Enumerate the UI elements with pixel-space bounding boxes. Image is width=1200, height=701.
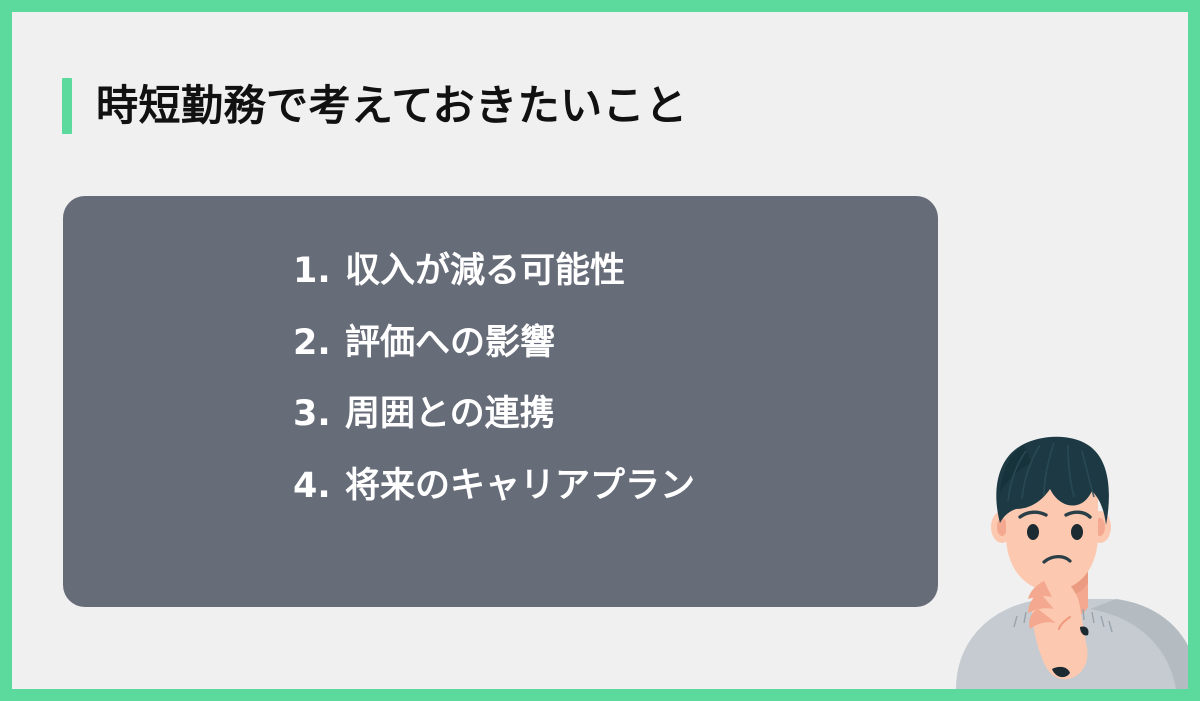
list-item-label: 評価への影響 xyxy=(345,324,555,363)
title-text: 時短勤務で考えておきたいこと xyxy=(96,85,688,127)
slide: 時短勤務で考えておきたいこと 1. 収入が減る可能性 2. 評価への影響 3. … xyxy=(0,0,1200,701)
list-item-label: 将来のキャリアプラン xyxy=(345,467,695,506)
list-item-number: 1. xyxy=(293,252,345,291)
title-accent-bar xyxy=(62,78,72,134)
list-item-label: 収入が減る可能性 xyxy=(345,252,625,291)
content-panel: 1. 収入が減る可能性 2. 評価への影響 3. 周囲との連携 4. 将来のキャ… xyxy=(63,196,938,607)
list-item-number: 2. xyxy=(293,324,345,363)
list-item: 4. 将来のキャリアプラン xyxy=(293,467,695,506)
list-item: 2. 評価への影響 xyxy=(293,324,695,363)
list-item-number: 3. xyxy=(293,395,345,434)
list-item-label: 周囲との連携 xyxy=(345,395,555,434)
page-title: 時短勤務で考えておきたいこと xyxy=(62,76,688,136)
thinking-person-illustration xyxy=(940,431,1188,689)
consideration-list: 1. 収入が減る可能性 2. 評価への影響 3. 周囲との連携 4. 将来のキャ… xyxy=(293,252,695,505)
slide-canvas: 時短勤務で考えておきたいこと 1. 収入が減る可能性 2. 評価への影響 3. … xyxy=(12,12,1188,689)
list-item-number: 4. xyxy=(293,467,345,506)
thinking-person-icon xyxy=(940,431,1188,689)
list-item: 3. 周囲との連携 xyxy=(293,395,695,434)
list-item: 1. 収入が減る可能性 xyxy=(293,252,695,291)
